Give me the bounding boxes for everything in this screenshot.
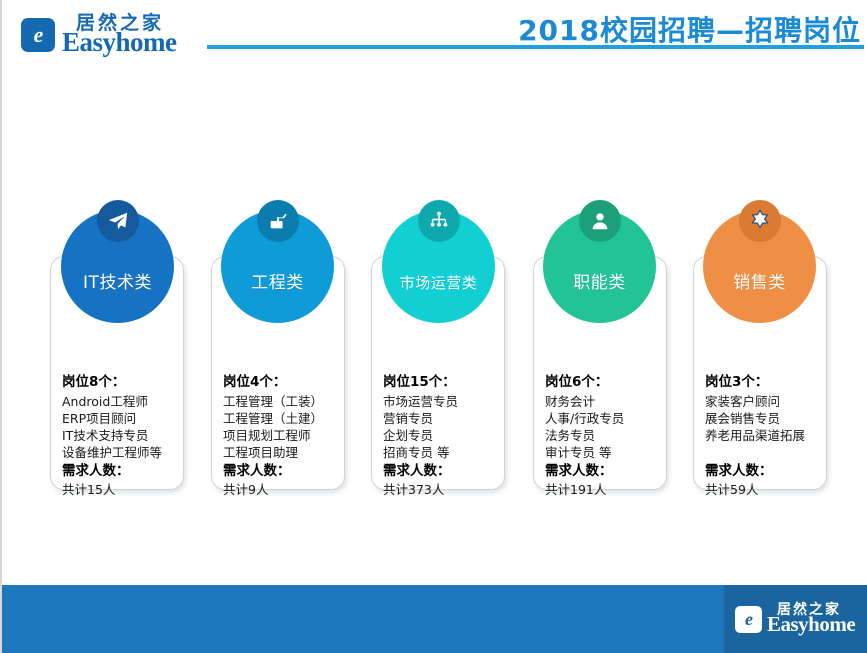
job-card-body: 岗位3个： 家装客户顾问 展会销售专员 养老用品渠道拓展 需求人数： 共计59人 [694, 373, 826, 498]
headcount-value: 共计59人 [705, 481, 826, 498]
job-item: 营销专员 [383, 410, 504, 427]
job-card-body: 岗位15个： 市场运营专员 营销专员 企划专员 招商专员 等 需求人数： 共计3… [372, 373, 504, 498]
headcount-value: 共计373人 [383, 481, 504, 498]
job-item: 展会销售专员 [705, 410, 826, 427]
job-item: Android工程师 [62, 393, 183, 410]
job-item: IT技术支持专员 [62, 427, 183, 444]
category-bubble-sales[interactable]: 销售类 [703, 210, 816, 323]
slide-canvas: e 居然之家 Easyhome 2018校园招聘—招聘岗位 岗位8个： Andr… [0, 0, 867, 653]
job-item: 审计专员 等 [545, 444, 666, 461]
title-underline-rule [207, 45, 864, 49]
brand-logo-header: e 居然之家 Easyhome [21, 8, 191, 62]
job-item: 工程项目助理 [223, 444, 344, 461]
job-item: 人事/行政专员 [545, 410, 666, 427]
job-item: 法务专员 [545, 427, 666, 444]
paper-plane-icon [97, 200, 139, 242]
category-label: IT技术类 [83, 268, 152, 323]
star-badge-icon [739, 200, 781, 242]
brand-name-en: Easyhome [767, 614, 855, 635]
category-label: 市场运营类 [400, 272, 478, 323]
category-bubble-functional[interactable]: 职能类 [543, 210, 656, 323]
brand-wordmark: 居然之家 Easyhome [767, 603, 855, 635]
job-item: ERP项目顾问 [62, 410, 183, 427]
job-item: 养老用品渠道拓展 [705, 427, 826, 444]
excavator-icon [257, 200, 299, 242]
headcount-label: 需求人数： [383, 462, 504, 481]
logo-glyph: e [21, 18, 55, 52]
easyhome-logo-mark-icon: e [735, 606, 762, 633]
headcount-label: 需求人数： [223, 462, 344, 481]
job-item: 财务会计 [545, 393, 666, 410]
brand-wordmark: 居然之家 Easyhome [62, 14, 177, 56]
headcount-value: 共计15人 [62, 481, 183, 498]
job-item: 工程管理（土建） [223, 410, 344, 427]
job-card-body: 岗位8个： Android工程师 ERP项目顾问 IT技术支持专员 设备维护工程… [51, 373, 183, 498]
easyhome-logo-mark-icon: e [21, 18, 55, 52]
headcount-value: 共计9人 [223, 481, 344, 498]
job-item: 招商专员 等 [383, 444, 504, 461]
logo-glyph: e [735, 606, 762, 633]
category-bubble-market-operations[interactable]: 市场运营类 [382, 210, 495, 323]
job-card-body: 岗位6个： 财务会计 人事/行政专员 法务专员 审计专员 等 需求人数： 共计1… [534, 373, 666, 498]
job-count-label: 岗位8个： [62, 373, 183, 392]
user-icon [579, 200, 621, 242]
category-label: 销售类 [733, 268, 786, 323]
layout-spacer [705, 444, 826, 461]
headcount-label: 需求人数： [62, 462, 183, 481]
headcount-label: 需求人数： [545, 462, 666, 481]
category-bubble-engineering[interactable]: 工程类 [221, 210, 334, 323]
job-item: 市场运营专员 [383, 393, 504, 410]
page-title: 2018校园招聘—招聘岗位 [518, 9, 861, 49]
brand-name-en: Easyhome [62, 29, 177, 56]
brand-logo-footer: e 居然之家 Easyhome [735, 599, 855, 639]
job-count-label: 岗位3个： [705, 373, 826, 392]
job-category-cards: 岗位8个： Android工程师 ERP项目顾问 IT技术支持专员 设备维护工程… [2, 210, 867, 500]
job-item: 设备维护工程师等 [62, 444, 183, 461]
org-chart-icon [418, 200, 460, 242]
job-item: 家装客户顾问 [705, 393, 826, 410]
category-label: 工程类 [251, 268, 304, 323]
slide-header: e 居然之家 Easyhome 2018校园招聘—招聘岗位 [2, 0, 867, 78]
category-label: 职能类 [573, 268, 626, 323]
job-item: 项目规划工程师 [223, 427, 344, 444]
headcount-label: 需求人数： [705, 462, 826, 481]
headcount-value: 共计191人 [545, 481, 666, 498]
job-count-label: 岗位4个： [223, 373, 344, 392]
category-bubble-it[interactable]: IT技术类 [61, 210, 174, 323]
job-item: 工程管理（工装） [223, 393, 344, 410]
job-count-label: 岗位6个： [545, 373, 666, 392]
slide-footer: e 居然之家 Easyhome [2, 585, 867, 653]
job-count-label: 岗位15个： [383, 373, 504, 392]
job-card-body: 岗位4个： 工程管理（工装） 工程管理（土建） 项目规划工程师 工程项目助理 需… [212, 373, 344, 498]
job-item: 企划专员 [383, 427, 504, 444]
